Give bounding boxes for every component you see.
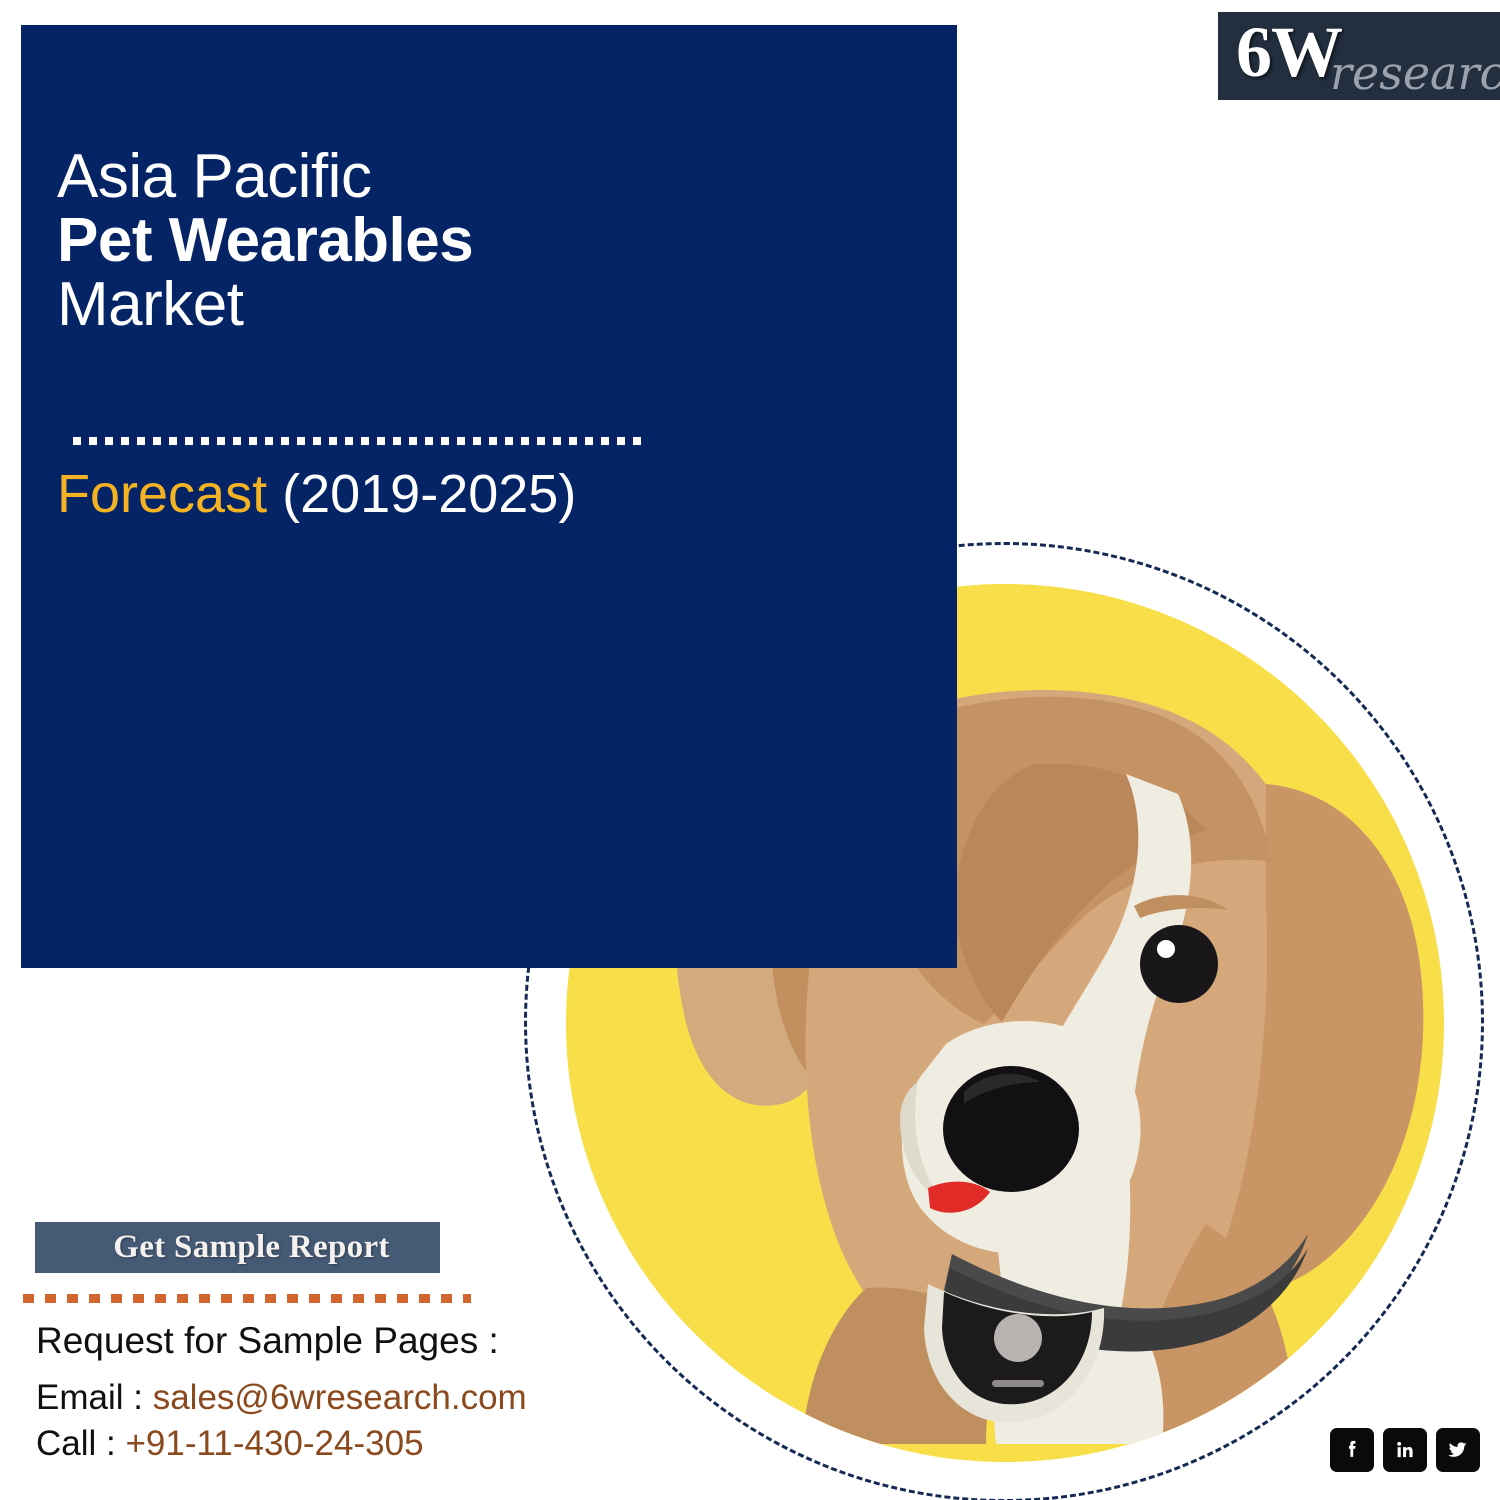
title-divider-dotted (73, 437, 647, 445)
forecast-line: Forecast (2019-2025) (57, 463, 576, 525)
logo-primary-text: 6W (1236, 16, 1342, 88)
linkedin-icon[interactable] (1383, 1428, 1427, 1472)
email-value[interactable]: sales@6wresearch.com (153, 1378, 527, 1417)
title-line-topic: Pet Wearables (57, 209, 917, 273)
logo-secondary-text: research (1330, 50, 1500, 96)
phone-label: Call : (36, 1424, 116, 1463)
company-logo[interactable]: 6W research (1218, 12, 1500, 100)
cta-divider-dotted (23, 1294, 471, 1303)
contact-email-row: Email : sales@6wresearch.com (36, 1378, 596, 1418)
facebook-icon[interactable] (1330, 1428, 1374, 1472)
forecast-label: Forecast (57, 464, 267, 524)
title-line-region: Asia Pacific (57, 145, 917, 209)
forecast-range: (2019-2025) (282, 464, 576, 524)
phone-value[interactable]: +91-11-430-24-305 (125, 1424, 423, 1463)
poster-canvas: Asia Pacific Pet Wearables Market Foreca… (0, 0, 1500, 1500)
contact-phone-row: Call : +91-11-430-24-305 (36, 1424, 596, 1464)
title-line-market: Market (57, 273, 917, 337)
contact-block: Request for Sample Pages : Email : sales… (36, 1320, 596, 1470)
social-links (1330, 1428, 1480, 1472)
forecast-spacer (267, 464, 282, 524)
contact-heading: Request for Sample Pages : (36, 1320, 596, 1362)
email-label: Email : (36, 1378, 143, 1417)
get-sample-report-button[interactable]: Get Sample Report (35, 1222, 440, 1273)
hero-panel: Asia Pacific Pet Wearables Market Foreca… (21, 25, 957, 968)
page-title: Asia Pacific Pet Wearables Market (57, 145, 917, 337)
twitter-icon[interactable] (1436, 1428, 1480, 1472)
